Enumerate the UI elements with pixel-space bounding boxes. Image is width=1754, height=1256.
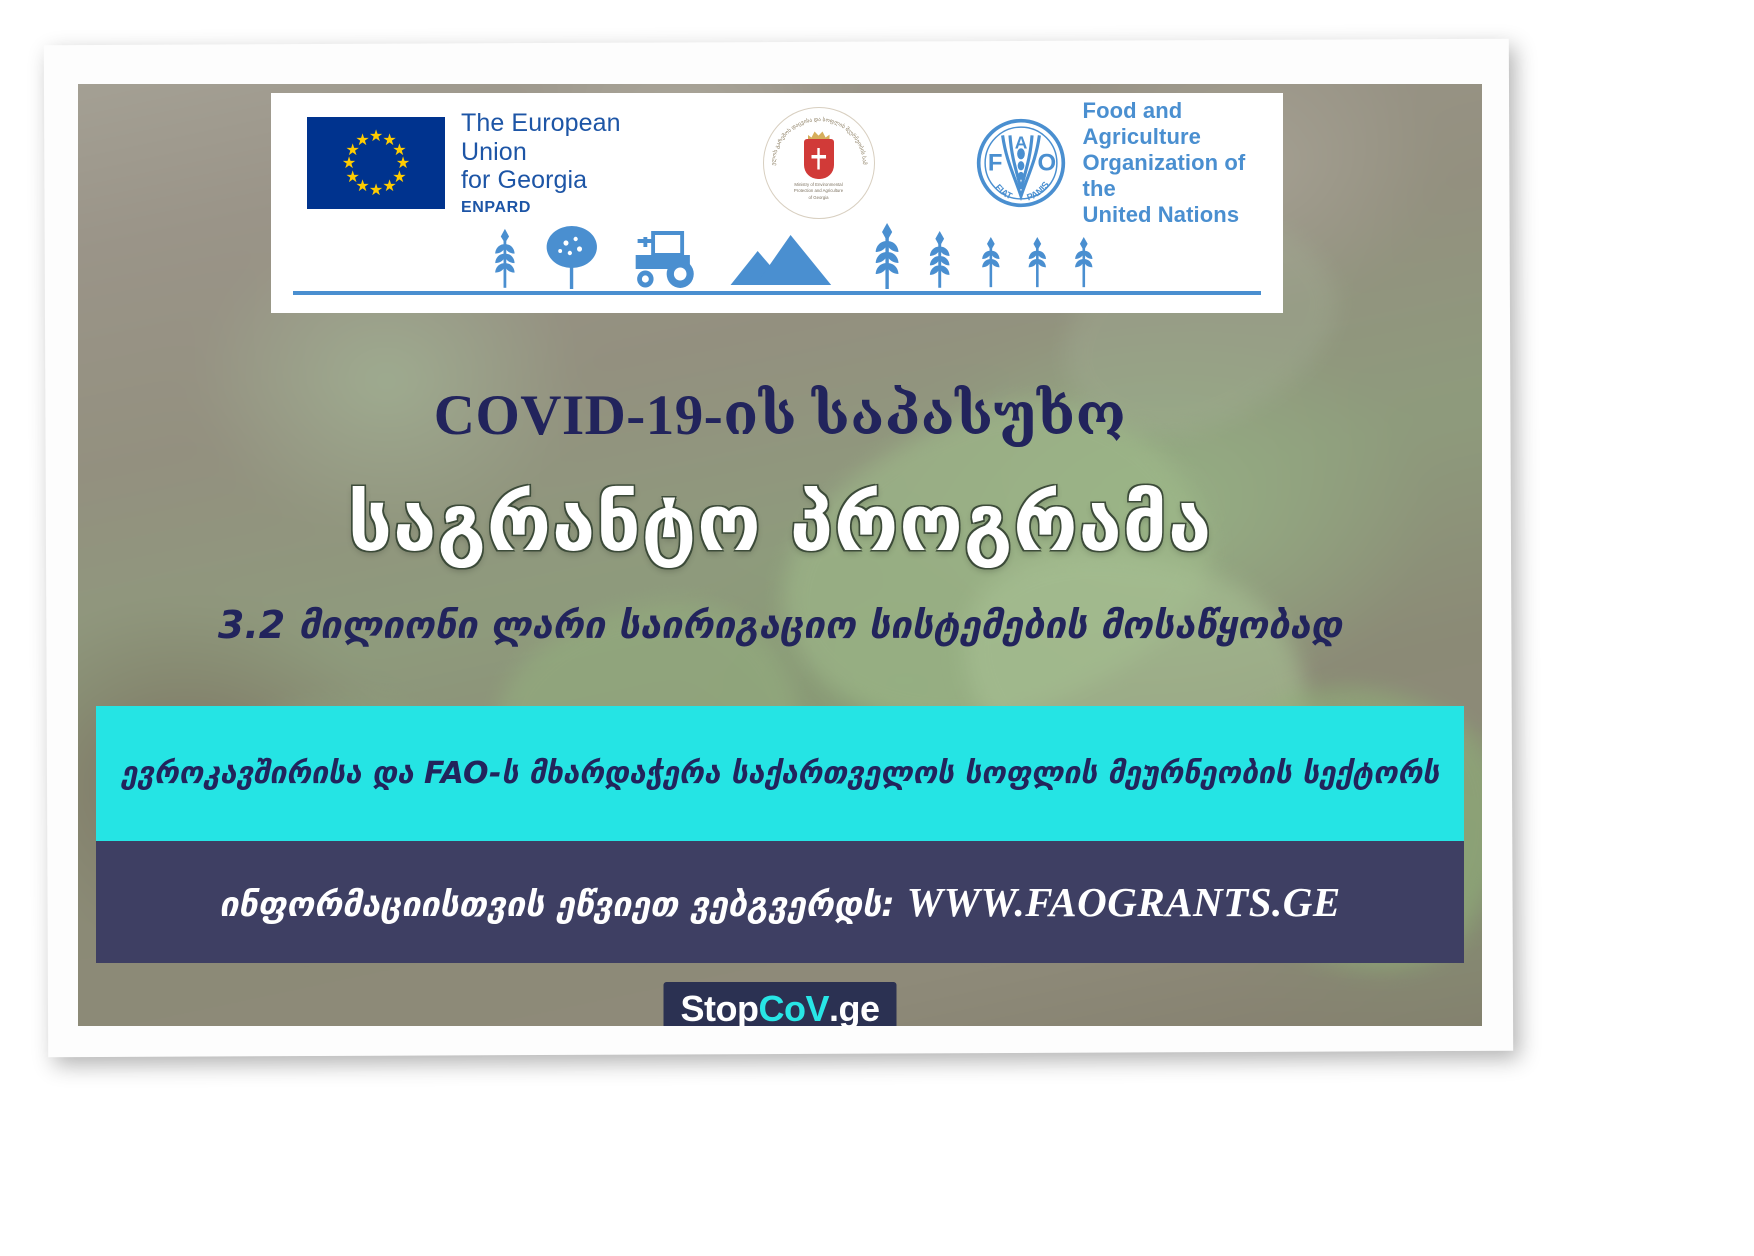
stopcov-part-cov: CoV [758, 988, 829, 1026]
eu-star-icon: ★ [382, 178, 396, 194]
agriculture-pictogram-strip [293, 221, 1261, 295]
website-url[interactable]: WWW.FAOGRANTS.GE [907, 879, 1341, 925]
lion-icon [835, 137, 861, 175]
fao-logo-text: Food and Agriculture Organization of the… [1083, 98, 1283, 228]
eu-flag-icon: ★★★★★★★★★★★★ [307, 117, 445, 209]
eu-star-icon: ★ [355, 132, 369, 148]
emblem-caption-line-3: of Georgia [794, 195, 843, 201]
funding-subtitle: 3.2 მილიონი ლარი საირიგაციო სისტემების მ… [78, 603, 1482, 647]
fao-line-1: Food and Agriculture [1083, 98, 1283, 150]
poster-page: ★★★★★★★★★★★★ The European Union for Geor… [0, 0, 1754, 1256]
fao-motto-right: PANIS [1025, 180, 1051, 203]
logo-row: ★★★★★★★★★★★★ The European Union for Geor… [271, 103, 1283, 223]
fao-emblem-icon: F A O FIAT PANIS [975, 117, 1067, 209]
support-banner-text: ევროკავშირისა და FAO-ს მხარდაჭერა საქართ… [121, 756, 1439, 791]
emblem-caption: Ministry of Environmental Protection and… [794, 182, 843, 201]
covid-response-title: COVID-19-ის საპასუხო [78, 381, 1482, 448]
logo-band: ★★★★★★★★★★★★ The European Union for Geor… [271, 93, 1283, 313]
agri-baseline [293, 291, 1261, 295]
eu-line-1: The European Union [461, 109, 667, 167]
website-banner-text: ინფორმაციისთვის ეწვიეთ ვებგვერდს: WWW.FA… [219, 878, 1340, 926]
fao-letter-a: A [1014, 132, 1027, 152]
stopcov-part-ge: .ge [829, 988, 880, 1026]
website-banner: ინფორმაციისთვის ეწვიეთ ვებგვერდს: WWW.FA… [96, 841, 1464, 963]
fao-letter-f: F [987, 149, 1002, 176]
eu-line-2: for Georgia [461, 166, 667, 195]
eu-logo: ★★★★★★★★★★★★ The European Union for Geor… [307, 109, 667, 217]
svg-text:PANIS: PANIS [1025, 180, 1051, 203]
grant-programme-headline: საგრანტო პროგრამა [78, 479, 1482, 569]
poster-image: ★★★★★★★★★★★★ The European Union for Geor… [78, 84, 1482, 1026]
stopcov-badge[interactable]: Stop CoV .ge [664, 982, 897, 1026]
emblem-caption-line-2: Protection and Agriculture [794, 188, 843, 194]
lion-icon [777, 137, 803, 175]
enpard-label: ENPARD [461, 199, 667, 217]
fao-letter-o: O [1037, 149, 1056, 176]
website-banner-label: ინფორმაციისთვის ეწვიეთ ვებგვერდს: [219, 885, 895, 925]
stopcov-part-stop: Stop [681, 988, 759, 1026]
eu-star-icon: ★ [369, 128, 383, 144]
support-banner: ევროკავშირისა და FAO-ს მხარდაჭერა საქართ… [96, 706, 1464, 841]
georgia-ministry-emblem-icon: საქართველოს გარემოს დაცვისა და სოფლის მე… [763, 107, 875, 219]
fao-line-2: Organization of the [1083, 150, 1283, 202]
fao-logo: F A O FIAT PANIS [975, 98, 1283, 228]
eu-star-icon: ★ [369, 182, 383, 198]
shield-icon [804, 139, 834, 179]
eu-logo-text: The European Union for Georgia ENPARD [461, 109, 667, 217]
